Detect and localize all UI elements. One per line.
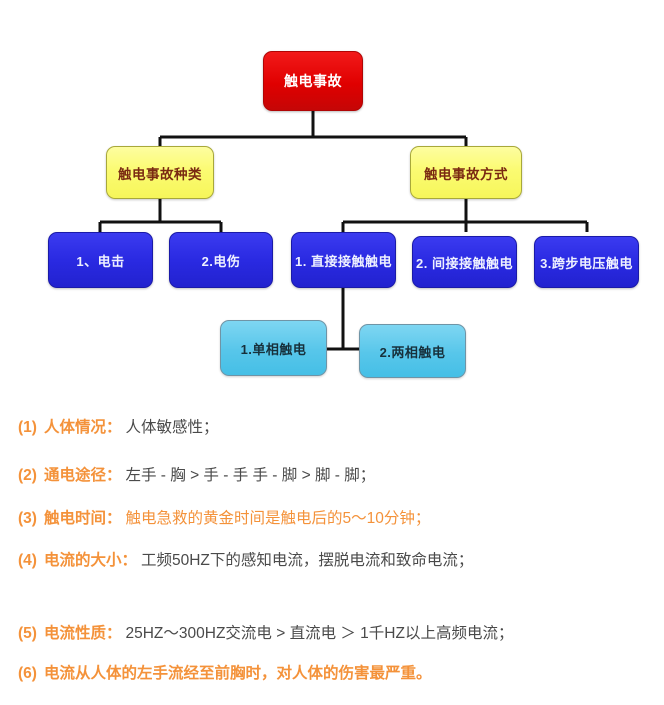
- note-3-text: 触电急救的黄金时间是触电后的5～10分钟；: [125, 510, 430, 527]
- org-chart-diagram: 触电事故 触电事故种类 触电事故方式 1、电击 2.电伤 1. 直接接触触电 2…: [0, 0, 664, 400]
- note-1-text: 人体敏感性；: [125, 419, 218, 436]
- node-method-direct-contact-label: 1. 直接接触触电: [295, 251, 392, 270]
- node-two-phase-shock[interactable]: 2.两相触电: [359, 324, 466, 378]
- node-method-indirect-contact[interactable]: 2. 间接接触触电: [412, 236, 517, 288]
- note-5-label: 电流性质: [44, 625, 106, 642]
- note-2-label: 通电途径: [44, 467, 106, 484]
- node-two-phase-shock-label: 2.两相触电: [380, 342, 446, 361]
- node-category-kinds[interactable]: 触电事故种类: [106, 146, 214, 199]
- note-row-4: (4)电流的大小：工频50HZ下的感知电流，摆脱电流和致命电流；: [18, 553, 473, 569]
- note-2-separator: ：: [106, 467, 122, 484]
- node-method-indirect-contact-label: 2. 间接接触触电: [416, 253, 513, 272]
- node-kind-electric-shock[interactable]: 1、电击: [48, 232, 153, 288]
- node-method-step-voltage[interactable]: 3.跨步电压触电: [534, 236, 639, 288]
- note-3-number: (3): [18, 510, 37, 527]
- note-3-separator: ：: [106, 510, 122, 527]
- note-4-text: 工频50HZ下的感知电流，摆脱电流和致命电流；: [141, 552, 473, 569]
- note-row-2: (2)通电途径：左手 - 胸 > 手 - 手 手 - 脚 > 脚 - 脚；: [18, 468, 375, 484]
- note-1-separator: ：: [106, 419, 122, 436]
- note-2-text: 左手 - 胸 > 手 - 手 手 - 脚 > 脚 - 脚；: [125, 467, 375, 484]
- node-method-direct-contact[interactable]: 1. 直接接触触电: [291, 232, 396, 288]
- node-category-methods[interactable]: 触电事故方式: [410, 146, 522, 199]
- note-2-number: (2): [18, 467, 37, 484]
- node-kind-electric-shock-label: 1、电击: [76, 251, 124, 270]
- node-kind-electric-injury-label: 2.电伤: [202, 251, 241, 270]
- node-category-methods-label: 触电事故方式: [424, 163, 508, 183]
- node-root-label: 触电事故: [284, 71, 342, 91]
- note-4-label: 电流的大小: [44, 552, 122, 569]
- note-1-number: (1): [18, 419, 37, 436]
- note-row-6: (6)电流从人体的左手流经至前胸时，对人体的伤害最严重。: [18, 666, 435, 682]
- node-kind-electric-injury[interactable]: 2.电伤: [169, 232, 273, 288]
- node-method-step-voltage-label: 3.跨步电压触电: [540, 253, 633, 272]
- note-row-3: (3)触电时间：触电急救的黄金时间是触电后的5～10分钟；: [18, 511, 430, 527]
- node-root[interactable]: 触电事故: [263, 51, 363, 111]
- node-category-kinds-label: 触电事故种类: [118, 163, 202, 183]
- note-4-number: (4): [18, 552, 37, 569]
- note-6-number: (6): [18, 665, 37, 682]
- note-5-text: 25HZ～300HZ交流电 > 直流电 ＞ 1千HZ以上高频电流；: [125, 625, 513, 642]
- node-single-phase-shock[interactable]: 1.单相触电: [220, 320, 327, 376]
- note-5-separator: ：: [106, 625, 122, 642]
- note-row-1: (1)人体情况：人体敏感性；: [18, 420, 219, 436]
- note-5-number: (5): [18, 625, 37, 642]
- note-4-separator: ：: [121, 552, 137, 569]
- note-6-label: 电流从人体的左手流经至前胸时，对人体的伤害最严重。: [44, 665, 432, 682]
- note-3-label: 触电时间: [44, 510, 106, 527]
- note-row-5: (5)电流性质：25HZ～300HZ交流电 > 直流电 ＞ 1千HZ以上高频电流…: [18, 626, 513, 642]
- note-1-label: 人体情况: [44, 419, 106, 436]
- node-single-phase-shock-label: 1.单相触电: [241, 339, 307, 358]
